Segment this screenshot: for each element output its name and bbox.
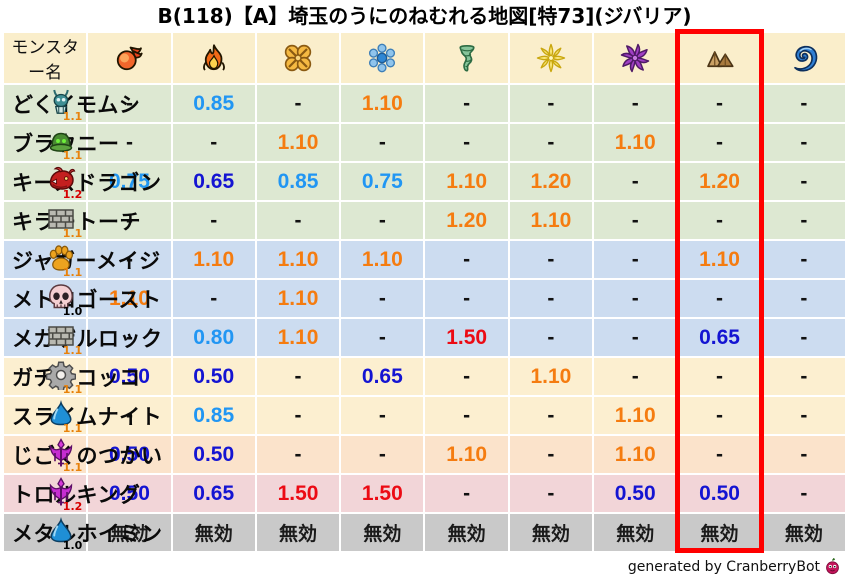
- resistance-cell-io: -: [257, 397, 339, 434]
- monster-version-label: 1.2: [63, 501, 83, 512]
- monster-name-cell[interactable]: トロルキング1.2: [4, 475, 86, 512]
- resistance-cell-dorma: -: [594, 85, 676, 122]
- monster-name-cell[interactable]: ジャガーメイジ1.1: [4, 241, 86, 278]
- header-element-gira: [173, 33, 255, 83]
- resistance-cell-jibaria: -: [678, 124, 760, 161]
- footer-credit: generated by CranberryBot: [628, 558, 841, 579]
- monster-version-label: 1.1: [63, 423, 83, 434]
- snowflake-icon: [341, 43, 423, 73]
- resistance-cell-gira: -: [173, 124, 255, 161]
- footer-text: generated by CranberryBot: [628, 559, 820, 575]
- monster-name-cell[interactable]: メガザルロック1.1: [4, 319, 86, 356]
- header-element-jibaria: [678, 33, 760, 83]
- monster-version-label: 1.0: [63, 306, 83, 317]
- resistance-cell-jibaria: 0.50: [678, 475, 760, 512]
- monster-name-cell[interactable]: メタルホイミン1.0: [4, 514, 86, 551]
- resistance-cell-dein: 無効: [510, 514, 592, 551]
- resistance-cell-hyado: 1.10: [341, 85, 423, 122]
- resistance-cell-gira: 0.65: [173, 475, 255, 512]
- resistance-cell-gira: 0.85: [173, 85, 255, 122]
- monster-name-cell[interactable]: キラートーチ1.1: [4, 202, 86, 239]
- monster-name-label: メタルホイミン: [12, 518, 163, 548]
- resistance-cell-hyado: 1.10: [341, 241, 423, 278]
- resistance-cell-jinku: -: [763, 475, 845, 512]
- resistance-cell-dorma: 1.10: [594, 436, 676, 473]
- resistance-cell-bagi: -: [425, 358, 507, 395]
- header-monster-name: モンスター名: [4, 33, 86, 83]
- resistance-cell-jinku: -: [763, 85, 845, 122]
- resistance-cell-bagi: -: [425, 85, 507, 122]
- table-row[interactable]: じごくのつかい1.10.500.50--1.10-1.10--: [4, 436, 845, 473]
- resistance-cell-jinku: -: [763, 280, 845, 317]
- monster-name-label: スライムナイト: [12, 401, 162, 431]
- resistance-cell-jibaria: 0.65: [678, 319, 760, 356]
- mountain-icon: [678, 43, 760, 73]
- fireball-icon: [88, 43, 170, 73]
- monster-version-label: 1.1: [63, 267, 83, 278]
- explosion-icon: [257, 43, 339, 73]
- resistance-cell-dein: 1.20: [510, 163, 592, 200]
- resistance-cell-gira: 無効: [173, 514, 255, 551]
- resistance-cell-hyado: 0.75: [341, 163, 423, 200]
- resistance-cell-jibaria: 無効: [678, 514, 760, 551]
- resistance-cell-io: -: [257, 202, 339, 239]
- resistance-cell-jinku: -: [763, 241, 845, 278]
- resistance-cell-gira: -: [173, 202, 255, 239]
- resistance-cell-io: 0.85: [257, 163, 339, 200]
- table-body: どくイモムシ1.1-0.85-1.10-----ブラウニー1.1--1.10--…: [4, 85, 845, 551]
- tornado-icon: [425, 43, 507, 73]
- resistance-cell-jinku: -: [763, 358, 845, 395]
- monster-version-label: 1.0: [63, 540, 83, 551]
- resistance-cell-jinku: -: [763, 202, 845, 239]
- table-row[interactable]: キラートーチ1.1----1.201.10---: [4, 202, 845, 239]
- resistance-cell-gira: 0.85: [173, 397, 255, 434]
- monster-name-cell[interactable]: キースドラゴン1.2: [4, 163, 86, 200]
- resistance-cell-dein: -: [510, 85, 592, 122]
- resistance-cell-io: 1.50: [257, 475, 339, 512]
- header-element-hyado: [341, 33, 423, 83]
- resistance-cell-hyado: 無効: [341, 514, 423, 551]
- resistance-cell-jinku: -: [763, 319, 845, 356]
- monster-name-cell[interactable]: ブラウニー1.1: [4, 124, 86, 161]
- monster-version-label: 1.1: [63, 228, 83, 239]
- table-header-row: モンスター名: [4, 33, 845, 83]
- resistance-cell-hyado: 0.65: [341, 358, 423, 395]
- wave-icon: [763, 43, 845, 73]
- resistance-cell-hyado: -: [341, 280, 423, 317]
- table-row[interactable]: ジャガーメイジ1.1-1.101.101.10---1.10-: [4, 241, 845, 278]
- resistance-cell-dorma: -: [594, 163, 676, 200]
- resistance-cell-io: -: [257, 85, 339, 122]
- resistance-cell-jinku: 無効: [763, 514, 845, 551]
- resistance-cell-io: 1.10: [257, 319, 339, 356]
- resistance-cell-gira: 0.65: [173, 163, 255, 200]
- resistance-cell-jibaria: 1.20: [678, 163, 760, 200]
- resistance-table: モンスター名 どくイモムシ1.1-0.85-1.10-----ブラウニー1.1-…: [2, 31, 847, 553]
- monster-version-label: 1.1: [63, 150, 83, 161]
- resistance-cell-gira: -: [173, 280, 255, 317]
- resistance-cell-bagi: 1.10: [425, 163, 507, 200]
- table-row[interactable]: メガザルロック1.1-0.801.10-1.50--0.65-: [4, 319, 845, 356]
- monster-version-label: 1.1: [63, 384, 83, 395]
- resistance-cell-bagi: 1.50: [425, 319, 507, 356]
- resistance-cell-dein: -: [510, 436, 592, 473]
- resistance-cell-bagi: 1.20: [425, 202, 507, 239]
- monster-name-cell[interactable]: どくイモムシ1.1: [4, 85, 86, 122]
- resistance-cell-io: 無効: [257, 514, 339, 551]
- header-element-dorma: [594, 33, 676, 83]
- monster-version-label: 1.1: [63, 345, 83, 356]
- monster-name-label: ジャガーメイジ: [12, 245, 161, 275]
- monster-version-label: 1.1: [63, 111, 83, 122]
- monster-name-label: メガザルロック: [12, 323, 163, 353]
- resistance-cell-jibaria: -: [678, 202, 760, 239]
- header-element-mera: [88, 33, 170, 83]
- table-row[interactable]: ガチャコッコ1.10.500.50-0.65-1.10---: [4, 358, 845, 395]
- resistance-cell-dein: -: [510, 124, 592, 161]
- resistance-cell-dorma: 0.50: [594, 475, 676, 512]
- resistance-cell-jibaria: -: [678, 85, 760, 122]
- resistance-cell-io: 1.10: [257, 280, 339, 317]
- resistance-cell-io: 1.10: [257, 124, 339, 161]
- resistance-cell-bagi: -: [425, 280, 507, 317]
- monster-name-label: じごくのつかい: [12, 440, 163, 470]
- resistance-cell-io: 1.10: [257, 241, 339, 278]
- resistance-cell-dorma: -: [594, 319, 676, 356]
- resistance-cell-hyado: 1.50: [341, 475, 423, 512]
- monster-name-cell[interactable]: じごくのつかい1.1: [4, 436, 86, 473]
- monster-name-cell[interactable]: ガチャコッコ1.1: [4, 358, 86, 395]
- cranberry-icon: [824, 563, 841, 579]
- resistance-cell-bagi: -: [425, 397, 507, 434]
- resistance-cell-jinku: -: [763, 397, 845, 434]
- resistance-cell-jinku: -: [763, 163, 845, 200]
- resistance-cell-dein: -: [510, 319, 592, 356]
- resistance-cell-jinku: -: [763, 436, 845, 473]
- resistance-cell-bagi: -: [425, 241, 507, 278]
- resistance-cell-dein: -: [510, 397, 592, 434]
- resistance-cell-hyado: -: [341, 124, 423, 161]
- resistance-cell-dorma: 1.10: [594, 397, 676, 434]
- resistance-cell-hyado: -: [341, 436, 423, 473]
- header-element-dein: [510, 33, 592, 83]
- resistance-cell-bagi: 無効: [425, 514, 507, 551]
- resistance-cell-jibaria: -: [678, 280, 760, 317]
- resistance-cell-bagi: -: [425, 124, 507, 161]
- resistance-cell-gira: 0.50: [173, 436, 255, 473]
- header-element-io: [257, 33, 339, 83]
- resistance-cell-io: -: [257, 358, 339, 395]
- monster-name-label: キースドラゴン: [12, 167, 161, 197]
- flame-icon: [173, 43, 255, 73]
- resistance-cell-bagi: 1.10: [425, 436, 507, 473]
- resistance-cell-jinku: -: [763, 124, 845, 161]
- table-row[interactable]: トロルキング1.20.500.651.501.50--0.500.50-: [4, 475, 845, 512]
- resistance-cell-dorma: 1.10: [594, 124, 676, 161]
- resistance-cell-dein: -: [510, 241, 592, 278]
- resistance-cell-jibaria: -: [678, 397, 760, 434]
- resistance-cell-hyado: -: [341, 397, 423, 434]
- resistance-cell-dorma: -: [594, 358, 676, 395]
- light-star-icon: [510, 43, 592, 73]
- table-row[interactable]: メトロゴースト1.01.10-1.10------: [4, 280, 845, 317]
- page-title: B(118)【A】埼玉のうにのねむれる地図[特73](ジバリア): [0, 0, 849, 31]
- monster-name-label: メトロゴースト: [12, 284, 161, 314]
- monster-name-cell[interactable]: メトロゴースト1.0: [4, 280, 86, 317]
- resistance-cell-dein: 1.10: [510, 358, 592, 395]
- header-element-bagi: [425, 33, 507, 83]
- resistance-cell-hyado: -: [341, 319, 423, 356]
- resistance-cell-dorma: -: [594, 202, 676, 239]
- resistance-cell-dein: -: [510, 475, 592, 512]
- table-row[interactable]: メタルホイミン1.0無効無効無効無効無効無効無効無効無効: [4, 514, 845, 551]
- dark-swirl-icon: [594, 43, 676, 73]
- resistance-cell-dorma: -: [594, 241, 676, 278]
- resistance-cell-dein: -: [510, 280, 592, 317]
- resistance-cell-io: -: [257, 436, 339, 473]
- resistance-cell-jibaria: 1.10: [678, 241, 760, 278]
- monster-version-label: 1.2: [63, 189, 83, 200]
- resistance-cell-gira: 1.10: [173, 241, 255, 278]
- resistance-cell-jibaria: -: [678, 436, 760, 473]
- table-row[interactable]: キースドラゴン1.20.750.650.850.751.101.20-1.20-: [4, 163, 845, 200]
- header-element-jinku: [763, 33, 845, 83]
- resistance-cell-gira: 0.50: [173, 358, 255, 395]
- resistance-cell-gira: 0.80: [173, 319, 255, 356]
- resistance-cell-hyado: -: [341, 202, 423, 239]
- resistance-cell-dein: 1.10: [510, 202, 592, 239]
- table-row[interactable]: ブラウニー1.1--1.10---1.10--: [4, 124, 845, 161]
- resistance-cell-dorma: -: [594, 280, 676, 317]
- monster-name-cell[interactable]: スライムナイト1.1: [4, 397, 86, 434]
- resistance-cell-dorma: 無効: [594, 514, 676, 551]
- table-row[interactable]: どくイモムシ1.1-0.85-1.10-----: [4, 85, 845, 122]
- monster-version-label: 1.1: [63, 462, 83, 473]
- resistance-cell-jibaria: -: [678, 358, 760, 395]
- resistance-cell-bagi: -: [425, 475, 507, 512]
- table-row[interactable]: スライムナイト1.1-0.85----1.10--: [4, 397, 845, 434]
